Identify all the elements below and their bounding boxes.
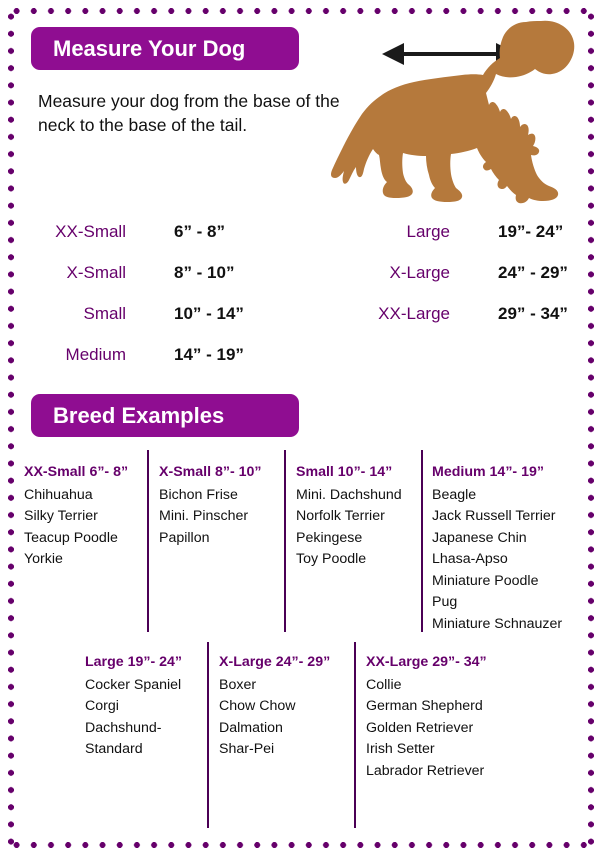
breed-item: Toy Poodle <box>296 549 402 571</box>
breed-item: Labrador Retriever <box>366 761 487 783</box>
breed-column-divider <box>284 450 286 632</box>
breed-examples-banner: Breed Examples <box>31 394 299 437</box>
breed-item: Chow Chow <box>219 696 330 718</box>
size-name: Small <box>18 304 126 324</box>
breed-item: Jack Russell Terrier <box>432 506 562 528</box>
breed-item: Standard <box>85 739 182 761</box>
breed-item: Irish Setter <box>366 739 487 761</box>
size-range: 19”- 24” <box>450 222 563 242</box>
breed-column-heading: X-Large 24”- 29” <box>219 652 330 674</box>
size-name: Medium <box>18 345 126 365</box>
breed-item: Mini. Pinscher <box>159 506 262 528</box>
size-range: 24” - 29” <box>450 263 568 283</box>
size-range: 6” - 8” <box>126 222 225 242</box>
size-row: XX-Large 29” - 34” <box>350 304 590 345</box>
breed-column-heading: X-Small 8”- 10” <box>159 462 262 484</box>
measure-instruction-text: Measure your dog from the base of the ne… <box>38 90 348 137</box>
breed-item: Lhasa-Apso <box>432 549 562 571</box>
breed-column-heading: Large 19”- 24” <box>85 652 182 674</box>
breed-item: German Shepherd <box>366 696 487 718</box>
breed-item: Corgi <box>85 696 182 718</box>
size-range: 10” - 14” <box>126 304 244 324</box>
size-row: Medium 14” - 19” <box>18 345 283 386</box>
size-name: XX-Small <box>18 222 126 242</box>
breed-item: Collie <box>366 675 487 697</box>
dog-silhouette-icon <box>331 21 574 204</box>
breed-item: Beagle <box>432 485 562 507</box>
size-row: Small 10” - 14” <box>18 304 283 345</box>
size-table-left: XX-Small 6” - 8” X-Small 8” - 10” Small … <box>18 222 283 386</box>
breed-item: Dalmation <box>219 718 330 740</box>
breed-column-divider <box>354 642 356 828</box>
breed-item: Pekingese <box>296 528 402 550</box>
breed-column-divider <box>147 450 149 632</box>
size-row: X-Small 8” - 10” <box>18 263 283 304</box>
size-range: 14” - 19” <box>126 345 244 365</box>
breed-column-divider <box>207 642 209 828</box>
breed-item: Bichon Frise <box>159 485 262 507</box>
dotted-border-left <box>8 8 14 848</box>
size-name: XX-Large <box>350 304 450 324</box>
breed-item: Japanese Chin <box>432 528 562 550</box>
breed-column-large: Large 19”- 24” Cocker Spaniel Corgi Dach… <box>85 652 182 761</box>
breed-column-medium: Medium 14”- 19” Beagle Jack Russell Terr… <box>432 462 562 636</box>
breed-item: Norfolk Terrier <box>296 506 402 528</box>
size-name: X-Small <box>18 263 126 283</box>
breed-column-small: Small 10”- 14” Mini. Dachshund Norfolk T… <box>296 462 402 571</box>
breed-item: Shar-Pei <box>219 739 330 761</box>
size-row: XX-Small 6” - 8” <box>18 222 283 263</box>
dotted-border-bottom <box>8 842 594 848</box>
breed-item: Papillon <box>159 528 262 550</box>
dog-illustration <box>330 12 592 212</box>
size-range: 8” - 10” <box>126 263 234 283</box>
breed-column-heading: Small 10”- 14” <box>296 462 402 484</box>
dog-size-chart-page: Measure Your Dog Measure your dog from t… <box>0 0 600 856</box>
size-table-right: Large 19”- 24” X-Large 24” - 29” XX-Larg… <box>350 222 590 345</box>
size-range: 29” - 34” <box>450 304 568 324</box>
breed-item: Silky Terrier <box>24 506 128 528</box>
breed-item: Miniature Schnauzer <box>432 614 562 636</box>
breed-item: Cocker Spaniel <box>85 675 182 697</box>
breed-item: Boxer <box>219 675 330 697</box>
breed-item: Pug <box>432 592 562 614</box>
breed-item: Mini. Dachshund <box>296 485 402 507</box>
size-row: X-Large 24” - 29” <box>350 263 590 304</box>
breed-column-xx-small: XX-Small 6”- 8” Chihuahua Silky Terrier … <box>24 462 128 571</box>
breed-item: Teacup Poodle <box>24 528 128 550</box>
size-name: Large <box>350 222 450 242</box>
size-name: X-Large <box>350 263 450 283</box>
breed-item: Yorkie <box>24 549 128 571</box>
breed-item: Golden Retriever <box>366 718 487 740</box>
breed-item: Chihuahua <box>24 485 128 507</box>
breed-column-xx-large: XX-Large 29”- 34” Collie German Shepherd… <box>366 652 487 782</box>
breed-column-heading: XX-Small 6”- 8” <box>24 462 128 484</box>
breed-item: Dachshund- <box>85 718 182 740</box>
breed-column-x-large: X-Large 24”- 29” Boxer Chow Chow Dalmati… <box>219 652 330 761</box>
breed-item: Miniature Poodle <box>432 571 562 593</box>
breed-column-x-small: X-Small 8”- 10” Bichon Frise Mini. Pinsc… <box>159 462 262 549</box>
size-row: Large 19”- 24” <box>350 222 590 263</box>
breed-column-divider <box>421 450 423 632</box>
breed-column-heading: Medium 14”- 19” <box>432 462 562 484</box>
measure-your-dog-banner: Measure Your Dog <box>31 27 299 70</box>
breed-column-heading: XX-Large 29”- 34” <box>366 652 487 674</box>
